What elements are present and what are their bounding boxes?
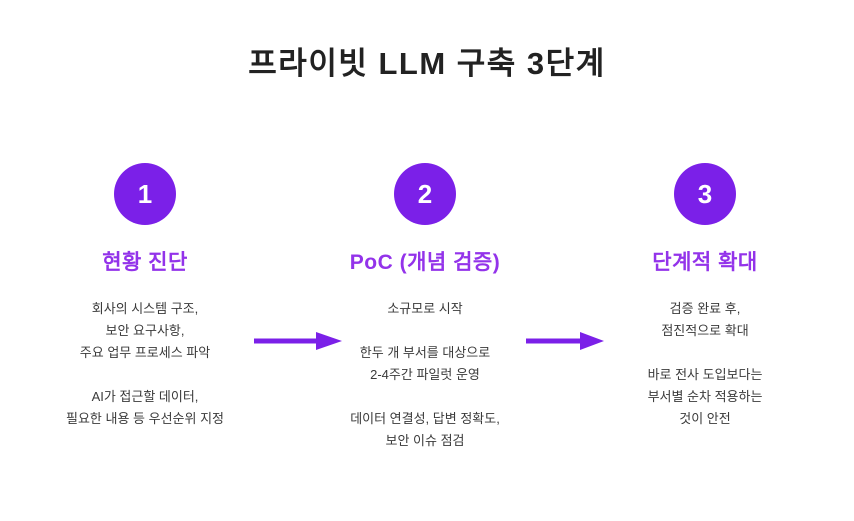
step-number-badge-3: 3	[674, 163, 736, 225]
step-paragraph: 바로 전사 도입보다는 부서별 순차 적용하는 것이 안전	[585, 364, 825, 430]
paragraph-line: 보안 이슈 점검	[305, 430, 545, 452]
paragraph-line: 점진적으로 확대	[585, 320, 825, 342]
step-paragraph: 검증 완료 후, 점진적으로 확대	[585, 298, 825, 342]
paragraph-line: AI가 접근할 데이터,	[25, 386, 265, 408]
step-heading-3: 단계적 확대	[585, 246, 825, 276]
step-paragraph: 데이터 연결성, 답변 정확도, 보안 이슈 점검	[305, 408, 545, 452]
paragraph-line: 바로 전사 도입보다는	[585, 364, 825, 386]
step-paragraph: 회사의 시스템 구조, 보안 요구사항, 주요 업무 프로세스 파악	[25, 298, 265, 364]
step-card-3: 3 단계적 확대 검증 완료 후, 점진적으로 확대 바로 전사 도입보다는 부…	[585, 155, 825, 430]
paragraph-line: 필요한 내용 등 우선순위 지정	[25, 408, 265, 430]
arrow-right-icon	[526, 331, 604, 351]
step-number-label-3: 3	[698, 181, 712, 207]
step-body-1: 회사의 시스템 구조, 보안 요구사항, 주요 업무 프로세스 파악 AI가 접…	[25, 298, 265, 430]
steps-container: 1 현황 진단 회사의 시스템 구조, 보안 요구사항, 주요 업무 프로세스 …	[0, 155, 854, 495]
paragraph-line: 2-4주간 파일럿 운영	[305, 364, 545, 386]
paragraph-line: 부서별 순차 적용하는	[585, 386, 825, 408]
step-paragraph: 소규모로 시작	[305, 298, 545, 320]
paragraph-line: 것이 안전	[585, 408, 825, 430]
step-number-badge-2: 2	[394, 163, 456, 225]
paragraph-line: 데이터 연결성, 답변 정확도,	[305, 408, 545, 430]
paragraph-line: 소규모로 시작	[305, 298, 545, 320]
step-card-1: 1 현황 진단 회사의 시스템 구조, 보안 요구사항, 주요 업무 프로세스 …	[25, 155, 265, 430]
paragraph-line: 주요 업무 프로세스 파악	[25, 342, 265, 364]
step-heading-2: PoC (개념 검증)	[305, 246, 545, 276]
step-number-label-1: 1	[138, 181, 152, 207]
step-number-label-2: 2	[418, 181, 432, 207]
page-title: 프라이빗 LLM 구축 3단계	[0, 38, 854, 83]
paragraph-line: 보안 요구사항,	[25, 320, 265, 342]
step-body-3: 검증 완료 후, 점진적으로 확대 바로 전사 도입보다는 부서별 순차 적용하…	[585, 298, 825, 430]
step-card-2: 2 PoC (개념 검증) 소규모로 시작 한두 개 부서를 대상으로 2-4주…	[305, 155, 545, 452]
step-heading-1: 현황 진단	[25, 246, 265, 276]
paragraph-line: 회사의 시스템 구조,	[25, 298, 265, 320]
step-number-badge-1: 1	[114, 163, 176, 225]
infographic-root: 프라이빗 LLM 구축 3단계 1 현황 진단 회사의 시스템 구조, 보안 요…	[0, 0, 854, 521]
paragraph-line: 검증 완료 후,	[585, 298, 825, 320]
step-body-2: 소규모로 시작 한두 개 부서를 대상으로 2-4주간 파일럿 운영 데이터 연…	[305, 298, 545, 452]
step-paragraph: AI가 접근할 데이터, 필요한 내용 등 우선순위 지정	[25, 386, 265, 430]
arrow-right-icon	[254, 331, 342, 351]
